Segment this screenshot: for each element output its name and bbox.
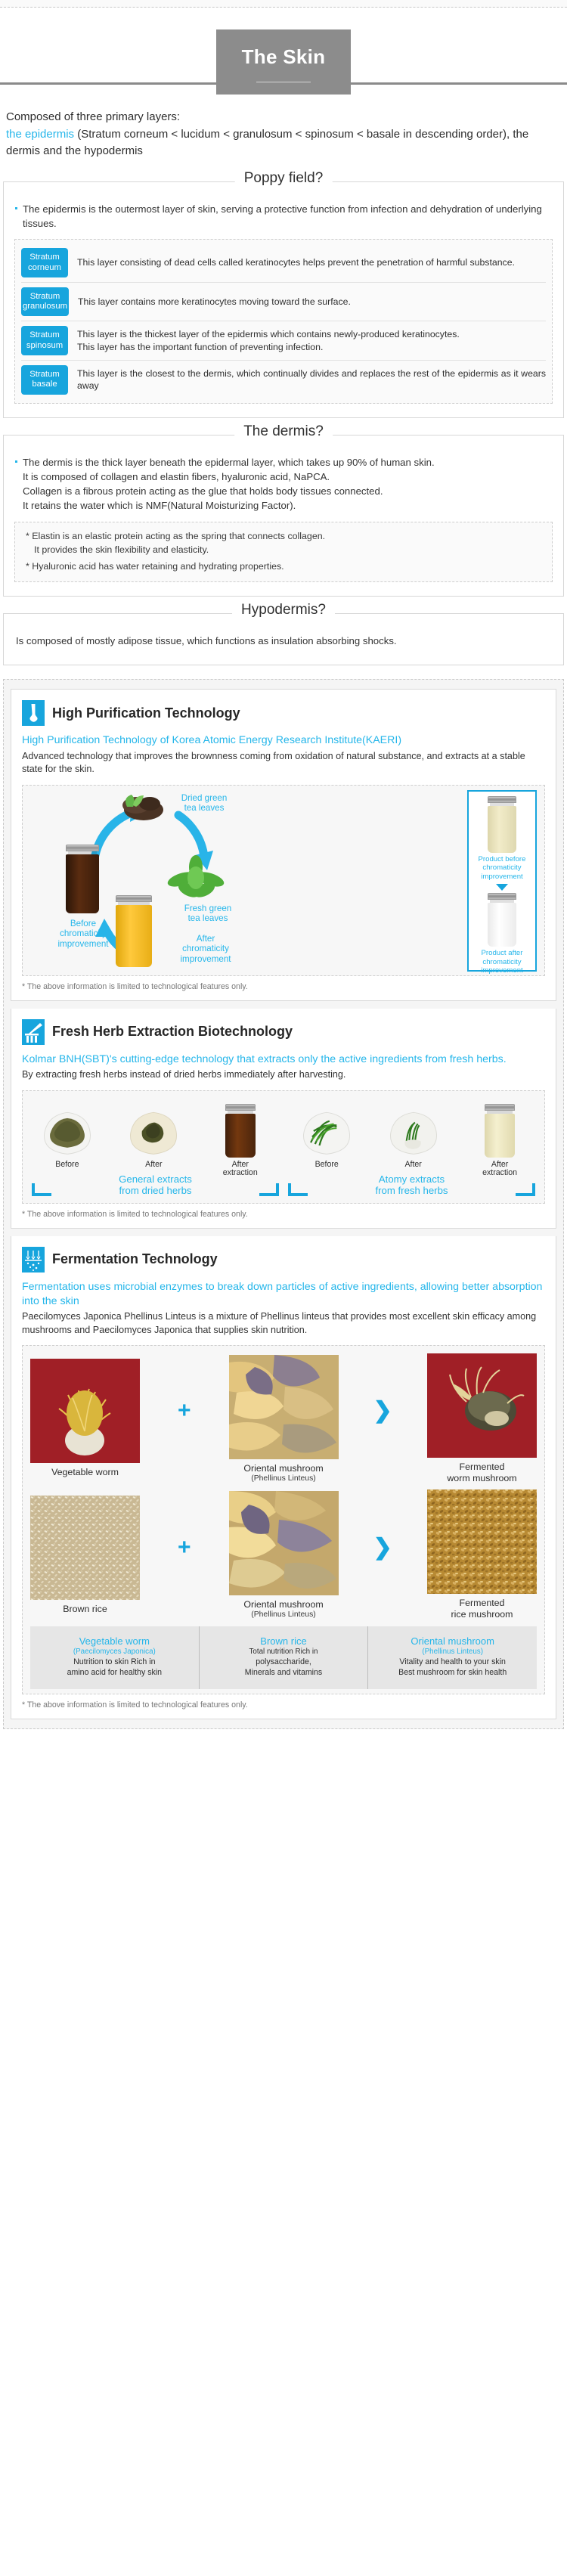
product-after-jar-image <box>488 893 516 947</box>
stratum-table: Stratum corneum This layer consisting of… <box>14 239 553 404</box>
card-title: Fermentation Technology <box>52 1252 218 1267</box>
fresh-herb-figure: Before After <box>22 1090 545 1204</box>
list-item: Before <box>287 1099 367 1179</box>
card-lead: Kolmar BNH(SBT)'s cutting-edge technolog… <box>22 1052 545 1067</box>
list-item: After extraction <box>460 1099 540 1179</box>
ferm-cell-fermented-worm-mushroom: Fermented worm mushroom <box>427 1353 537 1484</box>
bracket-label: Atomy extracts from fresh herbs <box>283 1173 540 1197</box>
fermentation-icon <box>22 1247 45 1273</box>
section-epidermis: Poppy field? The epidermis is the outerm… <box>3 181 564 418</box>
fresh-herb-bag-image <box>287 1099 367 1158</box>
ferm-caption: Fermented worm mushroom <box>427 1462 537 1484</box>
summary-col-brown-rice: Brown rice Total nutrition Rich in polys… <box>200 1626 369 1688</box>
summary-latin: (Phellinus Linteus) <box>373 1648 532 1657</box>
ferm-cell-oriental-mushroom: Oriental mushroom (Phellinus Linteus) <box>229 1355 339 1483</box>
footnote: * The above information is limited to te… <box>22 1700 545 1710</box>
card-title: High Purification Technology <box>52 706 240 721</box>
ferm-caption: Oriental mushroom <box>229 1463 339 1474</box>
stratum-description: This layer consisting of dead cells call… <box>77 248 546 277</box>
intro-block: Composed of three primary layers: the ep… <box>0 98 567 165</box>
title-underline <box>256 82 311 82</box>
card-header: Fresh Herb Extraction Biotechnology <box>22 1019 545 1045</box>
herb-thumbnail-row: Before After <box>27 1099 540 1179</box>
stratum-badge: Stratum spinosum <box>21 326 68 355</box>
card-lead: High Purification Technology of Korea At… <box>22 733 545 748</box>
ferm-caption: Vegetable worm <box>30 1467 140 1478</box>
bracket-atomy-extracts: Atomy extracts from fresh herbs <box>283 1180 540 1197</box>
dermis-line: The dermis is the thick layer beneath th… <box>23 455 553 470</box>
table-row: Vegetable worm + <box>30 1353 537 1484</box>
title-banner: The Skin <box>0 9 567 98</box>
summary-text: Nutrition to skin Rich in amino acid for… <box>35 1657 194 1679</box>
jar-brown-image <box>200 1099 280 1158</box>
card-description: By extracting fresh herbs instead of dri… <box>22 1068 545 1081</box>
intro-line-1: Composed of three primary layers: <box>6 109 561 125</box>
section-epidermis-legend: Poppy field? <box>235 171 333 185</box>
card-fresh-herb-extraction: Fresh Herb Extraction Biotechnology Kolm… <box>11 1009 556 1229</box>
card-high-purification: High Purification Technology High Purifi… <box>11 689 556 1000</box>
jar-after-image <box>116 895 152 967</box>
plus-icon: + <box>140 1536 229 1574</box>
footnote: * The above information is limited to te… <box>22 1210 545 1219</box>
dermis-line: Collagen is a fibrous protein acting as … <box>23 484 553 498</box>
stratum-description: This layer is the closest to the dermis,… <box>77 365 546 395</box>
page-title-box: The Skin <box>216 29 351 95</box>
purification-diagram: Dried green tea leaves <box>22 785 545 976</box>
brown-rice-image <box>30 1496 140 1600</box>
ferm-subcaption: (Phellinus Linteus) <box>229 1474 339 1483</box>
dermis-note: * Hyaluronic acid has water retaining an… <box>26 560 541 574</box>
summary-heading: Oriental mushroom <box>373 1635 532 1648</box>
jar-before-image <box>66 845 99 913</box>
fermented-worm-mushroom-image <box>427 1353 537 1458</box>
card-fermentation: Fermentation Technology Fermentation use… <box>11 1236 556 1719</box>
plus-icon: + <box>140 1400 229 1437</box>
card-header: High Purification Technology <box>22 700 545 726</box>
summary-heading: Vegetable worm <box>35 1635 194 1648</box>
chevron-right-icon: ❯ <box>339 1536 428 1574</box>
product-before-jar-image <box>488 796 516 853</box>
epidermis-link[interactable]: the epidermis <box>6 128 74 141</box>
hypodermis-body: Is composed of mostly adipose tissue, wh… <box>14 634 553 648</box>
summary-heading: Brown rice <box>204 1635 364 1648</box>
table-row: Stratum spinosum This layer is the thick… <box>21 321 546 361</box>
ingredient-summary-table: Vegetable worm (Paecilomyces Japonica) N… <box>30 1626 537 1688</box>
dried-herb-bag-image <box>27 1099 107 1158</box>
list-item: After <box>373 1099 454 1179</box>
dermis-note-box: * Elastin is an elastic protein acting a… <box>14 522 553 582</box>
intro-line-2-rest: (Stratum corneum < lucidum < granulosum … <box>6 128 528 157</box>
intro-line-2: the epidermis (Stratum corneum < lucidum… <box>6 126 561 159</box>
table-row: Stratum granulosum This layer contains m… <box>21 283 546 322</box>
vegetable-worm-image <box>30 1359 140 1463</box>
card-title: Fresh Herb Extraction Biotechnology <box>52 1025 293 1040</box>
top-edge-divider <box>0 0 567 8</box>
section-dermis: The dermis? The dermis is the thick laye… <box>3 435 564 597</box>
summary-text: Vitality and health to your skin Best mu… <box>373 1657 532 1679</box>
arrow-down-icon <box>496 884 508 891</box>
fermented-rice-mushroom-image <box>427 1489 537 1594</box>
stratum-badge: Stratum granulosum <box>21 287 69 317</box>
ferm-cell-brown-rice: Brown rice <box>30 1496 140 1615</box>
list-item: After extraction <box>200 1099 280 1179</box>
stratum-description: This layer is the thickest layer of the … <box>77 326 546 355</box>
stratum-badge: Stratum basale <box>21 365 68 395</box>
summary-col-vegetable-worm: Vegetable worm (Paecilomyces Japonica) N… <box>30 1626 200 1688</box>
ferm-cell-oriental-mushroom: Oriental mushroom (Phellinus Linteus) <box>229 1491 339 1619</box>
ferm-cell-vegetable-worm: Vegetable worm <box>30 1359 140 1478</box>
section-dermis-legend: The dermis? <box>234 424 333 439</box>
table-row: Stratum basale This layer is the closest… <box>21 361 546 399</box>
chevron-right-icon: ❯ <box>339 1400 428 1437</box>
label-dried-green-tea: Dried green tea leaves <box>166 793 242 814</box>
label-before-chromaticity: Before chromaticity improvement <box>39 919 127 950</box>
flask-icon <box>22 700 45 726</box>
bracket-row: General extracts from dried herbs Atomy … <box>27 1180 540 1197</box>
bracket-label: General extracts from dried herbs <box>27 1173 283 1197</box>
section-hypodermis: Hypodermis? Is composed of mostly adipos… <box>3 613 564 665</box>
section-hypodermis-legend: Hypodermis? <box>232 603 335 617</box>
footnote: * The above information is limited to te… <box>22 982 545 991</box>
dermis-note-continued: It provides the skin flexibility and ela… <box>26 544 541 557</box>
fermentation-figure: Vegetable worm + <box>22 1345 545 1694</box>
summary-latin: Total nutrition Rich in <box>204 1648 364 1657</box>
dried-tea-leaves-image <box>113 790 166 822</box>
table-row: Stratum corneum This layer consisting of… <box>21 243 546 283</box>
card-header: Fermentation Technology <box>22 1247 545 1273</box>
page-root: The Skin Composed of three primary layer… <box>0 0 567 2576</box>
summary-latin: (Paecilomyces Japonica) <box>35 1648 194 1657</box>
table-row: Brown rice + <box>30 1489 537 1620</box>
product-comparison-panel: Product before chromaticity improvement … <box>467 790 537 972</box>
label-after-chromaticity: After chromaticity improvement <box>160 934 251 965</box>
ferm-caption: Fermented rice mushroom <box>427 1598 537 1620</box>
ferm-caption: Brown rice <box>30 1604 140 1615</box>
card-lead: Fermentation uses microbial enzymes to b… <box>22 1280 545 1309</box>
fresh-tea-leaves-image <box>166 855 225 901</box>
ferm-caption: Oriental mushroom <box>229 1599 339 1610</box>
page-title: The Skin <box>242 47 326 77</box>
card-description: Advanced technology that improves the br… <box>22 750 545 776</box>
list-item: After <box>113 1099 194 1179</box>
label-fresh-green-tea: Fresh green tea leaves <box>166 904 249 924</box>
product-after-caption: Product after chromaticity improvement <box>481 949 522 975</box>
stratum-description: This layer contains more keratinocytes m… <box>78 287 546 317</box>
technology-wrapper: High Purification Technology High Purifi… <box>3 679 564 1728</box>
dermis-line: It is composed of collagen and elastin f… <box>23 470 553 484</box>
extraction-icon <box>22 1019 45 1045</box>
dermis-line: It retains the water which is NMF(Natura… <box>23 498 553 513</box>
card-description: Paecilomyces Japonica Phellinus Linteus … <box>22 1310 545 1336</box>
stratum-badge: Stratum corneum <box>21 248 68 277</box>
ferm-cell-fermented-rice-mushroom: Fermented rice mushroom <box>427 1489 537 1620</box>
list-item: Before <box>27 1099 107 1179</box>
epidermis-bullet: The epidermis is the outermost layer of … <box>14 202 553 231</box>
summary-text: polysaccharide, Minerals and vitamins <box>204 1657 364 1679</box>
oriental-mushroom-image <box>229 1491 339 1595</box>
dermis-bullet-list: The dermis is the thick layer beneath th… <box>14 455 553 513</box>
oriental-mushroom-image <box>229 1355 339 1459</box>
dried-herb-used-image <box>113 1099 194 1158</box>
dermis-note: * Elastin is an elastic protein acting a… <box>26 530 541 544</box>
ferm-subcaption: (Phellinus Linteus) <box>229 1610 339 1619</box>
fresh-herb-used-image <box>373 1099 454 1158</box>
jar-cream-image <box>460 1099 540 1158</box>
product-before-caption: Product before chromaticity improvement <box>479 855 526 882</box>
summary-col-oriental-mushroom: Oriental mushroom (Phellinus Linteus) Vi… <box>368 1626 537 1688</box>
bracket-general-extracts: General extracts from dried herbs <box>27 1180 283 1197</box>
